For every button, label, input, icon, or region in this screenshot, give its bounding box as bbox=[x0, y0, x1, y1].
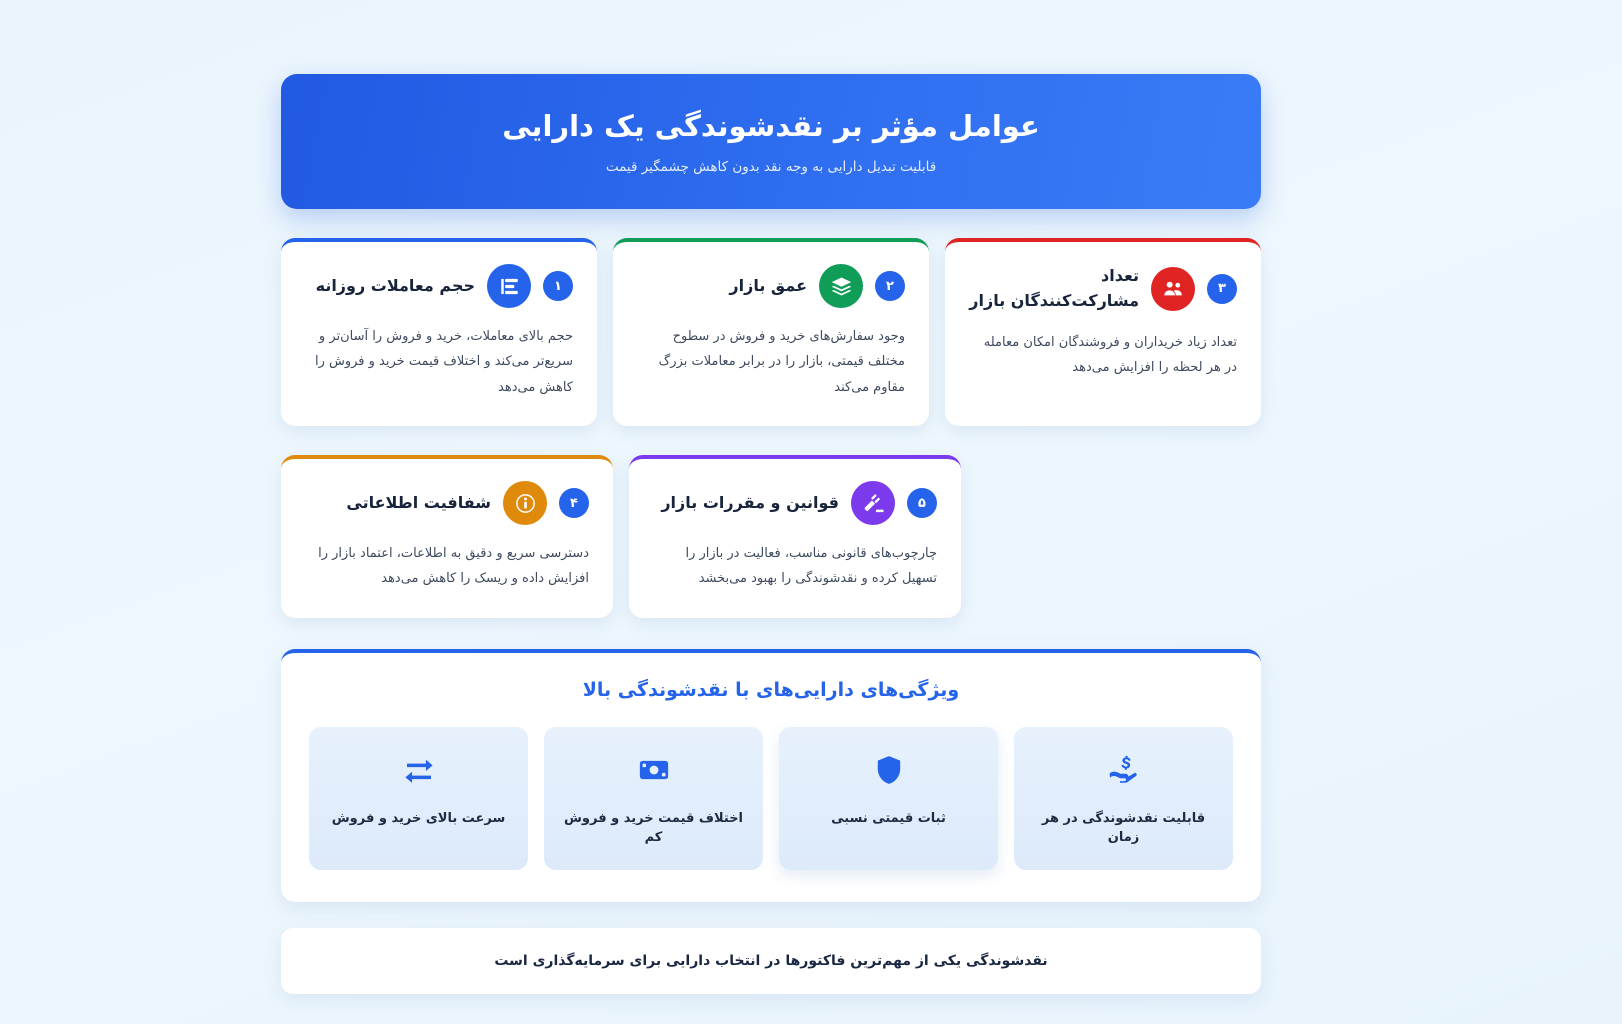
factor-card-description: دسترسی سریع و دقیق به اطلاعات، اعتماد با… bbox=[305, 541, 589, 592]
factor-number-badge: ۵ bbox=[907, 488, 937, 518]
feature-label: سرعت بالای خرید و فروش bbox=[332, 809, 506, 829]
hand-dollar-icon bbox=[1108, 753, 1140, 787]
factor-card-title: عمق بازار bbox=[637, 274, 807, 299]
features-grid: قابلیت نقدشوندگی در هر زمان ثبات قیمتی ن… bbox=[309, 727, 1233, 870]
people-icon bbox=[1151, 267, 1195, 311]
shield-icon bbox=[873, 753, 905, 787]
factor-number-badge: ۳ bbox=[1207, 274, 1237, 304]
factor-card-header: ۱ حجم معاملات روزانه bbox=[305, 264, 573, 308]
factor-number-badge: ۲ bbox=[875, 271, 905, 301]
bar-chart-icon bbox=[487, 264, 531, 308]
gavel-icon bbox=[851, 481, 895, 525]
factor-number-badge: ۱ bbox=[543, 271, 573, 301]
factor-card-3[interactable]: ۳ تعداد مشارکت‌کنندگان بازار تعداد زیاد … bbox=[945, 238, 1261, 426]
footer-text: نقدشوندگی یکی از مهم‌ترین فاکتورها در ان… bbox=[494, 953, 1047, 969]
feature-label: ثبات قیمتی نسبی bbox=[831, 809, 946, 829]
page-header-banner: عوامل مؤثر بر نقدشوندگی یک دارایی قابلیت… bbox=[281, 74, 1261, 209]
grid-spacer bbox=[977, 455, 1261, 618]
feature-item-low-spread[interactable]: اختلاف قیمت خرید و فروش کم bbox=[544, 727, 763, 870]
layers-icon bbox=[819, 264, 863, 308]
feature-item-liquidity-anytime[interactable]: قابلیت نقدشوندگی در هر زمان bbox=[1014, 727, 1233, 870]
factor-cards-row-2: ۵ قوانین و مقررات بازار چارچوب‌های قانون… bbox=[281, 455, 1261, 618]
factor-card-description: چارچوب‌های قانونی مناسب، فعالیت در بازار… bbox=[653, 541, 937, 592]
factor-card-description: وجود سفارش‌های خرید و فروش در سطوح مختلف… bbox=[637, 324, 905, 400]
factor-card-2[interactable]: ۲ عمق بازار وجود سفارش‌های خرید و فروش د… bbox=[613, 238, 929, 426]
content-container: عوامل مؤثر بر نقدشوندگی یک دارایی قابلیت… bbox=[281, 0, 1261, 994]
factor-card-title: تعداد مشارکت‌کنندگان بازار bbox=[969, 264, 1139, 314]
factor-number-badge: ۴ bbox=[559, 488, 589, 518]
info-icon bbox=[503, 481, 547, 525]
feature-item-price-stability[interactable]: ثبات قیمتی نسبی bbox=[779, 727, 998, 870]
exchange-arrows-icon bbox=[403, 753, 435, 787]
factor-card-title: حجم معاملات روزانه bbox=[305, 274, 475, 299]
footer-bar: نقدشوندگی یکی از مهم‌ترین فاکتورها در ان… bbox=[281, 928, 1261, 994]
factor-cards-row-1: ۳ تعداد مشارکت‌کنندگان بازار تعداد زیاد … bbox=[281, 238, 1261, 426]
factor-card-1[interactable]: ۱ حجم معاملات روزانه حجم بالای معاملات، … bbox=[281, 238, 597, 426]
factor-card-header: ۲ عمق بازار bbox=[637, 264, 905, 308]
infographic-page: عوامل مؤثر بر نقدشوندگی یک دارایی قابلیت… bbox=[0, 0, 1622, 1024]
page-subtitle: قابلیت تبدیل دارایی به وجه نقد بدون کاهش… bbox=[606, 159, 936, 175]
factor-card-title: قوانین و مقررات بازار bbox=[653, 491, 839, 516]
feature-label: قابلیت نقدشوندگی در هر زمان bbox=[1024, 809, 1223, 848]
factor-card-header: ۴ شفافیت اطلاعاتی bbox=[305, 481, 589, 525]
page-title: عوامل مؤثر بر نقدشوندگی یک دارایی bbox=[502, 109, 1040, 143]
factor-card-4[interactable]: ۴ شفافیت اطلاعاتی دسترسی سریع و دقیق به … bbox=[281, 455, 613, 618]
features-panel: ویژگی‌های دارایی‌های با نقدشوندگی بالا ق… bbox=[281, 649, 1261, 902]
factor-card-5[interactable]: ۵ قوانین و مقررات بازار چارچوب‌های قانون… bbox=[629, 455, 961, 618]
features-section-title: ویژگی‌های دارایی‌های با نقدشوندگی بالا bbox=[309, 679, 1233, 701]
factor-card-description: حجم بالای معاملات، خرید و فروش را آسان‌ت… bbox=[305, 324, 573, 400]
factor-card-header: ۳ تعداد مشارکت‌کنندگان بازار bbox=[969, 264, 1237, 314]
feature-label: اختلاف قیمت خرید و فروش کم bbox=[554, 809, 753, 848]
feature-item-fast-trading[interactable]: سرعت بالای خرید و فروش bbox=[309, 727, 528, 870]
factor-card-description: تعداد زیاد خریداران و فروشندگان امکان مع… bbox=[969, 330, 1237, 381]
banknote-icon bbox=[638, 753, 670, 787]
factor-card-title: شفافیت اطلاعاتی bbox=[305, 491, 491, 516]
factor-card-header: ۵ قوانین و مقررات بازار bbox=[653, 481, 937, 525]
